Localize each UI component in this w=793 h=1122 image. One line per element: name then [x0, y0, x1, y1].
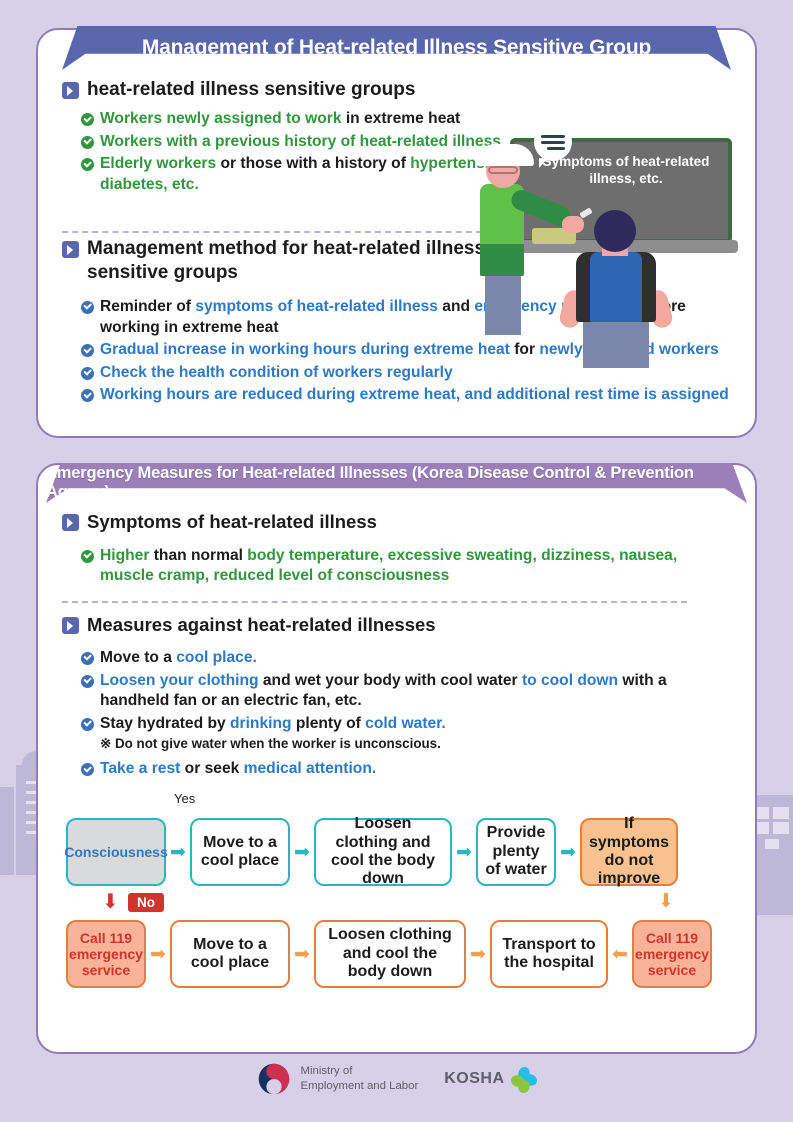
list-item-text: Stay hydrated by drinking plenty of cold…	[100, 714, 446, 735]
list-item-text: Check the health condition of workers re…	[100, 363, 453, 384]
check-icon	[81, 652, 94, 665]
check-icon	[81, 113, 94, 126]
section-sensitive-groups: heat-related illness sensitive groups Wo…	[62, 78, 522, 198]
chevron-right-icon	[62, 514, 79, 531]
glasses-icon	[488, 166, 518, 174]
footer-logos: Ministry of Employment and Labor KOSHA	[0, 1062, 793, 1096]
section-heading-management-method: Management method for heat-related illne…	[62, 237, 492, 286]
list-item: Workers with a previous history of heat-…	[81, 132, 522, 153]
check-icon	[81, 389, 94, 402]
flow-node[interactable]: Loosen clothing and cool the body down	[314, 818, 452, 886]
dashed-divider	[62, 601, 687, 603]
flow-node[interactable]: Transport to the hospital	[490, 920, 608, 988]
list-item: Take a rest or seek medical attention.	[81, 759, 721, 780]
list-item-text: Workers newly assigned to work in extrem…	[100, 109, 460, 130]
list-item-text: Workers with a previous history of heat-…	[100, 132, 501, 153]
list-item-text: Elderly workers or those with a history …	[100, 154, 522, 195]
flow-arrow-icon: ➡	[290, 843, 314, 862]
flow-node[interactable]: Consciousness	[66, 818, 166, 886]
check-icon	[81, 367, 94, 380]
flowchart-row-bottom: Call 119 emergency service➡Move to a coo…	[66, 920, 731, 988]
kosha-mark-icon	[510, 1066, 536, 1092]
check-icon	[81, 158, 94, 171]
list-note: ※ Do not give water when the worker is u…	[100, 736, 721, 752]
check-icon	[81, 675, 94, 688]
ministry-logo: Ministry of Employment and Labor	[257, 1062, 418, 1096]
section-symptoms: Symptoms of heat-related illness Higher …	[62, 510, 722, 589]
instructor-hand	[562, 216, 584, 233]
instructor-body-shade	[480, 244, 524, 276]
kosha-text: KOSHA	[444, 1070, 504, 1088]
divider-wrap-2	[62, 592, 687, 612]
classroom-illustration: Symptoms of heat-related illness, etc.	[466, 118, 746, 368]
flowchart-row-top: Consciousness➡Move to a cool place➡Loose…	[66, 818, 731, 886]
section-heading-sensitive-groups: heat-related illness sensitive groups	[62, 78, 522, 102]
speech-bubble-icon	[534, 123, 572, 161]
flow-arrow-icon: ➡	[556, 843, 580, 862]
check-icon	[81, 301, 94, 314]
arrow-down-icon: ⬇	[658, 892, 674, 911]
list-item: Move to a cool place.	[81, 648, 721, 669]
section-management-method: Management method for heat-related illne…	[62, 237, 492, 286]
list-item-text: Working hours are reduced during extreme…	[100, 385, 729, 406]
list-item-text: Take a rest or seek medical attention.	[100, 759, 376, 780]
section-heading-measures: Measures against heat-related illnesses	[62, 613, 722, 637]
list-item: Working hours are reduced during extreme…	[81, 385, 749, 406]
flow-yes-label: Yes	[174, 791, 195, 806]
symptoms-list: Higher than normal body temperature, exc…	[81, 546, 722, 587]
list-item-text: Loosen your clothing and wet your body w…	[100, 671, 721, 712]
ministry-text: Ministry of Employment and Labor	[300, 1064, 418, 1094]
arrow-down-icon: ⬇	[102, 892, 119, 912]
list-item: Elderly workers or those with a history …	[81, 154, 522, 195]
worker-legs	[583, 318, 649, 368]
flow-node[interactable]: Call 119 emergency service	[632, 920, 712, 988]
list-item: Loosen your clothing and wet your body w…	[81, 671, 721, 712]
instructor-legs	[485, 273, 521, 335]
emergency-flowchart: Consciousness➡Move to a cool place➡Loose…	[66, 818, 731, 988]
worker-head	[594, 210, 636, 252]
dashed-divider	[62, 231, 492, 233]
flow-arrow-icon: ➡	[452, 843, 476, 862]
chevron-right-icon	[62, 82, 79, 99]
flow-arrow-icon: ➡	[466, 945, 490, 964]
flow-arrow-icon: ➡	[166, 843, 190, 862]
taegeuk-icon	[257, 1062, 291, 1096]
flow-node[interactable]: If symptoms do not improve	[580, 818, 678, 886]
hardhat-icon	[476, 144, 534, 166]
list-item-text: Higher than normal body temperature, exc…	[100, 546, 722, 587]
kosha-logo: KOSHA	[444, 1066, 535, 1092]
sensitive-groups-list: Workers newly assigned to work in extrem…	[81, 109, 522, 195]
list-item-text: Move to a cool place.	[100, 648, 257, 669]
list-item: Stay hydrated by drinking plenty of cold…	[81, 714, 721, 735]
flow-node[interactable]: Provide plenty of water	[476, 818, 556, 886]
section-measures: Measures against heat-related illnesses	[62, 613, 722, 637]
chevron-right-icon	[62, 617, 79, 634]
check-icon	[81, 550, 94, 563]
check-icon	[81, 136, 94, 149]
flow-node[interactable]: Move to a cool place	[190, 818, 290, 886]
list-item: Workers newly assigned to work in extrem…	[81, 109, 522, 130]
check-icon	[81, 344, 94, 357]
flow-no-badge: No	[128, 893, 164, 912]
flow-node[interactable]: Loosen clothing and cool the body down	[314, 920, 466, 988]
chevron-right-icon	[62, 241, 79, 258]
check-icon	[81, 763, 94, 776]
section-heading-symptoms: Symptoms of heat-related illness	[62, 510, 722, 534]
flow-node[interactable]: Call 119 emergency service	[66, 920, 146, 988]
check-icon	[81, 718, 94, 731]
list-item: Higher than normal body temperature, exc…	[81, 546, 722, 587]
worker-vest	[590, 252, 642, 322]
flow-node[interactable]: Move to a cool place	[170, 920, 290, 988]
flow-arrow-icon: ➡	[146, 945, 170, 964]
flow-arrow-icon: ➡	[290, 945, 314, 964]
flow-arrow-icon: ⬅	[608, 945, 632, 964]
measures-list: Move to a cool place.Loosen your clothin…	[81, 648, 721, 782]
